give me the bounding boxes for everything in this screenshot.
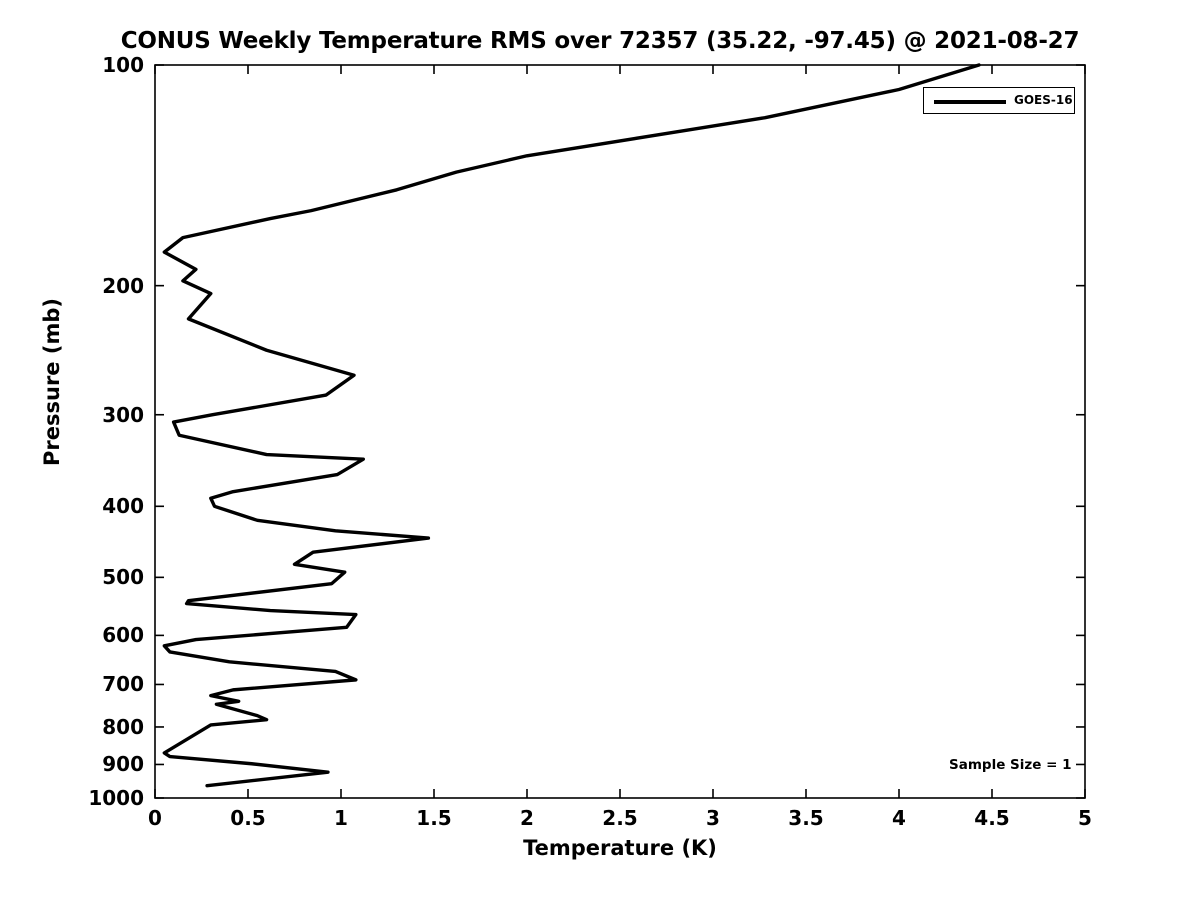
sample-size-annotation: Sample Size = 1 [949,757,1072,773]
y-tick-label: 800 [40,715,144,739]
y-axis-title: Pressure (mb) [40,282,64,482]
x-tick-label: 2.5 [602,806,637,830]
legend-swatch-goes-16 [934,100,1006,104]
x-tick-label: 1.5 [416,806,451,830]
series-line-goes-16 [164,65,979,786]
legend-label-goes-16: GOES-16 [1014,93,1073,107]
tick-marks [155,65,1085,798]
x-tick-label: 0 [148,806,162,830]
y-tick-label: 100 [40,53,144,77]
y-tick-label: 1000 [40,786,144,810]
data-series-lines [164,65,979,786]
legend: GOES-16 [923,87,1075,114]
y-tick-label: 400 [40,494,144,518]
x-tick-label: 3 [706,806,720,830]
y-tick-label: 600 [40,623,144,647]
y-tick-label: 700 [40,672,144,696]
x-tick-label: 5 [1078,806,1092,830]
axes-frame [155,65,1085,798]
x-tick-label: 2 [520,806,534,830]
y-tick-label: 500 [40,565,144,589]
chart-figure: CONUS Weekly Temperature RMS over 72357 … [0,0,1200,900]
x-tick-label: 1 [334,806,348,830]
x-axis-title: Temperature (K) [155,836,1085,860]
x-tick-label: 0.5 [230,806,265,830]
x-tick-label: 3.5 [788,806,823,830]
x-tick-label: 4.5 [974,806,1009,830]
y-tick-label: 900 [40,752,144,776]
x-tick-label: 4 [892,806,906,830]
